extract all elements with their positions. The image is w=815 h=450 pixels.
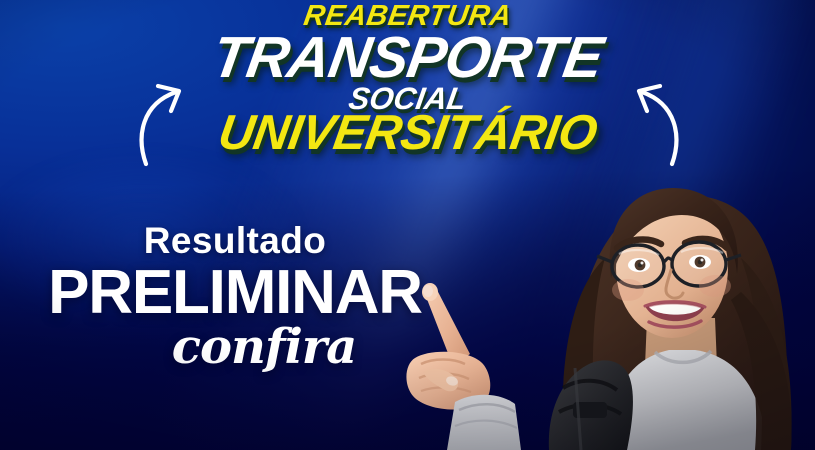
vignette-overlay (0, 0, 815, 450)
reopening-announcement-banner: REABERTURA TRANSPORTE SOCIAL UNIVERSITÁR… (0, 0, 815, 450)
